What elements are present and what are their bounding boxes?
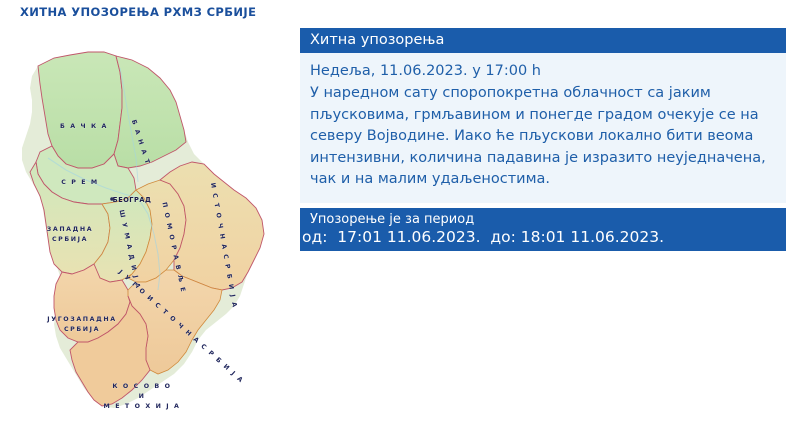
map-label-zapadna-srbija-2: СРБИЈА	[52, 236, 88, 243]
alert-panel: Хитна упозорења Недеља, 11.06.2023. у 17…	[300, 28, 786, 251]
alert-panel-header: Хитна упозорења	[300, 28, 786, 53]
map-label-srem: С Р Е М	[61, 179, 99, 186]
alert-message-text: У наредном сату спoропокретна облачност …	[310, 83, 776, 191]
alert-datetime: Недеља, 11.06.2023. у 17:00 h	[310, 61, 776, 82]
alert-period-title: Упозорење је за период	[300, 211, 786, 228]
serbia-regions-map[interactable]: Б А Ч К А Б А Н А Т С Р Е М БЕОГРАД ЗАПА…	[8, 38, 280, 413]
map-label-zapadna-srbija: ЗАПАДНА	[47, 226, 93, 233]
map-label-beograd: БЕОГРАД	[113, 196, 152, 204]
alert-period-band: Упозорење је за период од: 17:01 11.06.2…	[300, 208, 786, 251]
map-label-metohija: М Е Т О Х И Ј А	[104, 403, 181, 410]
alert-body: Недеља, 11.06.2023. у 17:00 h У наредном…	[300, 53, 786, 203]
map-label-jugozapadna-srbija: ЈУГОЗАПАДНА	[46, 316, 116, 323]
alert-period-range: од: 17:01 11.06.2023. до: 18:01 11.06.20…	[300, 228, 786, 247]
serbia-map-panel: Б А Ч К А Б А Н А Т С Р Е М БЕОГРАД ЗАПА…	[8, 38, 280, 413]
map-label-jugozapadna-srbija-2: СРБИЈА	[64, 326, 100, 333]
map-label-kosovo-i: И	[139, 393, 146, 400]
page-title: ХИТНА УПОЗОРЕЊА РХМЗ СРБИЈЕ	[20, 5, 256, 19]
map-label-backa: Б А Ч К А	[60, 123, 108, 130]
map-label-kosovo: К О С О В О	[112, 383, 171, 390]
